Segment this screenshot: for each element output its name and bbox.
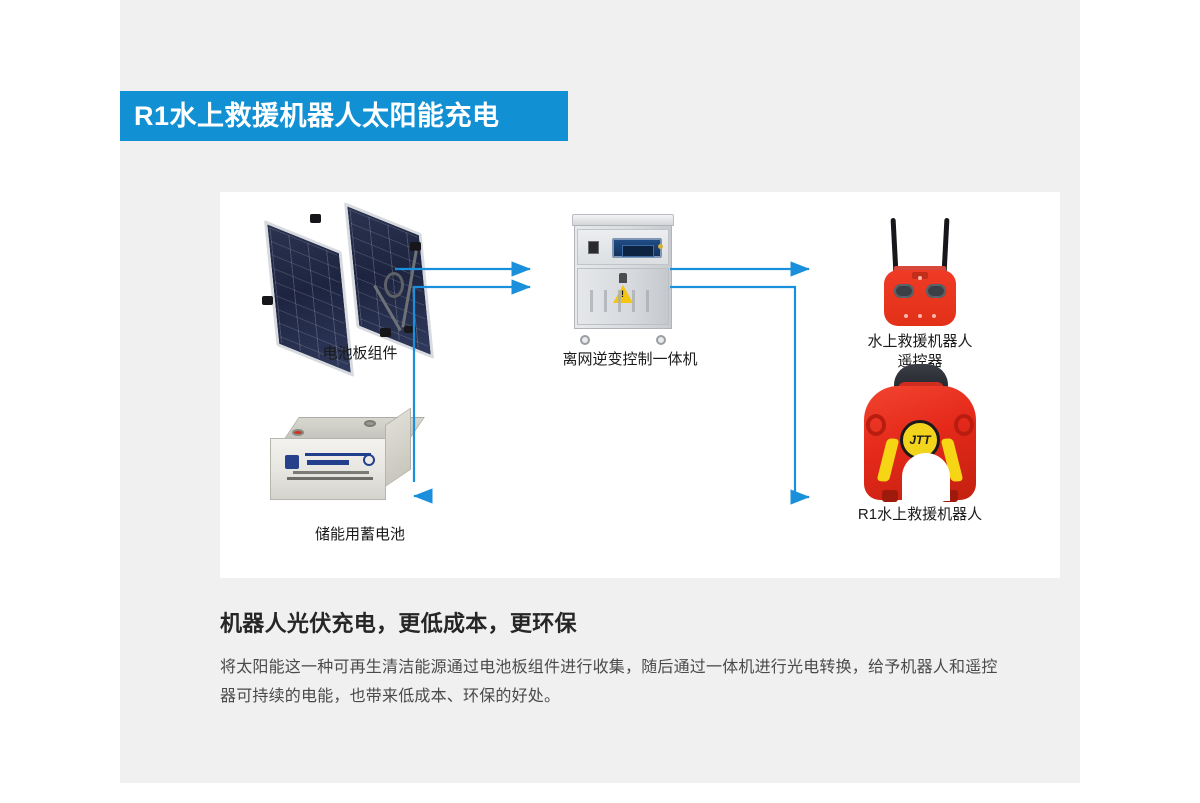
inverter-power-switch <box>588 241 599 254</box>
battery-label-line <box>293 471 369 474</box>
remote-joystick-right <box>926 284 946 298</box>
robot-body: JTT <box>864 386 976 500</box>
remote-button-dot <box>932 314 936 318</box>
robot-center-notch <box>902 453 950 501</box>
page-title: R1水上救援机器人太阳能充电 <box>134 103 500 130</box>
inverter-display-screen <box>612 238 662 258</box>
node-label-battery: 储能用蓄电池 <box>240 525 480 545</box>
inverter-door-lock <box>619 273 627 283</box>
solar-panel-corner-bracket <box>262 296 273 305</box>
battery-terminal-negative <box>364 420 376 427</box>
remote-controller-illustration <box>872 218 968 328</box>
node-label-solar-panel: 电池板组件 <box>250 344 470 364</box>
battery-spec-label <box>283 453 375 483</box>
robot-logo-text: JTT <box>909 433 930 447</box>
inverter-caster-wheel <box>580 335 590 345</box>
node-label-rescue-robot: R1水上救援机器人 <box>820 505 1020 525</box>
inverter-cabinet-door <box>577 268 669 325</box>
robot-grab-handle-right <box>954 414 974 436</box>
inverter-control-section <box>577 229 669 265</box>
robot-thruster-left <box>882 490 898 502</box>
solar-panel-illustration <box>258 210 458 340</box>
inverter-body <box>574 225 672 329</box>
diagram-node-rescue-robot: JTT R1水上救援机器人 <box>820 360 1020 550</box>
inverter-caster-wheel <box>656 335 666 345</box>
node-label-inverter: 离网逆变控制一体机 <box>520 350 740 370</box>
battery-label-line <box>307 460 349 465</box>
battery-label-line <box>287 477 373 480</box>
inverter-status-led <box>658 244 663 249</box>
product-feature-page: R1水上救援机器人太阳能充电 电池板组件 <box>0 0 1200 803</box>
inverter-vent-holes <box>590 290 656 312</box>
solar-panel-corner-bracket <box>310 214 321 223</box>
diagram-node-remote-controller: 水上救援机器人 遥控器 <box>820 212 1020 372</box>
diagram-node-solar-panel: 电池板组件 <box>250 204 470 364</box>
section-title-bar: R1水上救援机器人太阳能充电 <box>120 91 568 141</box>
system-diagram-panel: 电池板组件 <box>220 192 1060 578</box>
feature-heading: 机器人光伏充电，更低成本，更环保 <box>220 610 1010 639</box>
remote-body <box>884 270 956 326</box>
battery-illustration <box>270 417 420 509</box>
robot-accent-stripe <box>877 438 900 482</box>
solar-panel-corner-bracket <box>380 328 391 337</box>
solar-panel-foot <box>404 326 416 333</box>
feature-copy-block: 机器人光伏充电，更低成本，更环保 将太阳能这一种可再生清洁能源通过电池板组件进行… <box>220 610 1010 712</box>
rescue-robot-illustration: JTT <box>858 364 982 500</box>
diagram-node-inverter: 离网逆变控制一体机 <box>520 202 740 377</box>
remote-joystick-left <box>894 284 914 298</box>
diagram-node-battery: 储能用蓄电池 <box>240 407 480 547</box>
battery-brand-mark <box>285 455 299 469</box>
inverter-cabinet-illustration <box>568 214 678 339</box>
remote-indicator-led <box>918 276 922 280</box>
solar-panel-handle <box>384 272 404 298</box>
remote-button-dot <box>918 314 922 318</box>
battery-label-line <box>305 453 371 456</box>
battery-terminal-positive <box>292 429 304 436</box>
robot-grab-handle-left <box>866 414 886 436</box>
feature-body-text: 将太阳能这一种可再生清洁能源通过电池板组件进行收集，随后通过一体机进行光电转换，… <box>220 653 1010 712</box>
battery-front-face <box>270 438 386 500</box>
remote-button-dot <box>904 314 908 318</box>
